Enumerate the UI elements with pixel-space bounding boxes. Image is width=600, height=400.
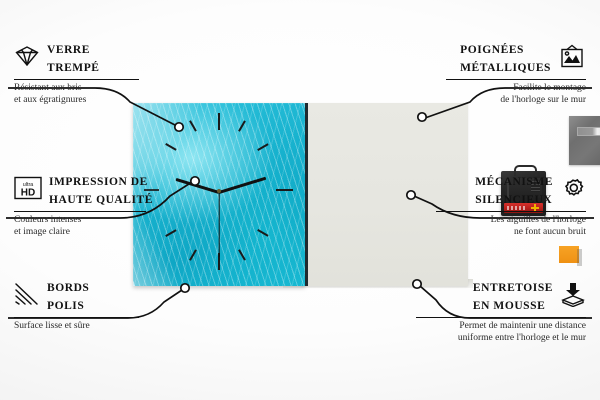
clock-tick <box>276 189 293 191</box>
feature-description: Les aiguilles de l'horloge ne font aucun… <box>436 215 586 238</box>
feature-description: Couleurs intenses et image claire <box>14 215 164 238</box>
clock-tick <box>218 113 220 130</box>
polished-edge-icon <box>14 282 40 311</box>
feature-heading: VERRE TREMPÉ <box>14 40 154 76</box>
product-photo <box>133 103 468 286</box>
feature-heading: POIGNÉES MÉTALLIQUES <box>446 40 586 76</box>
feature-title: BORDS POLIS <box>47 278 89 314</box>
feature-heading: BORDS POLIS <box>14 278 154 314</box>
metal-bracket-part <box>569 116 600 165</box>
feature-title: POIGNÉES MÉTALLIQUES <box>460 40 551 76</box>
feature-description: Permet de maintenir une distance uniform… <box>416 321 586 344</box>
foam-spacer-icon <box>560 281 586 312</box>
feature-rule <box>446 79 586 80</box>
diamond-icon <box>14 45 40 72</box>
picture-hanger-icon <box>558 44 586 73</box>
feature-poignees-metalliques[interactable]: POIGNÉES MÉTALLIQUES Facilite le montage… <box>446 40 586 106</box>
feature-heading: ENTRETOISE EN MOUSSE <box>416 278 586 314</box>
foam-spacer-part <box>559 246 579 263</box>
feature-verre-trempe[interactable]: VERRE TREMPÉ Résistant aux bris et aux é… <box>14 40 154 106</box>
feature-title: MÉCANISME SILENCIEUX <box>475 172 553 208</box>
ultra-hd-icon: ultra HD <box>14 176 42 205</box>
feature-heading: MÉCANISME SILENCIEUX <box>436 172 586 208</box>
feature-bords-polis[interactable]: BORDS POLIS Surface lisse et sûre <box>14 278 154 333</box>
bracket-slot <box>577 127 600 136</box>
feature-heading: ultra HD IMPRESSION DE HAUTE QUALITÉ <box>14 172 164 208</box>
feature-mecanisme-silencieux[interactable]: MÉCANISME SILENCIEUX Les aiguilles de l'… <box>436 172 586 238</box>
feature-rule <box>14 79 139 80</box>
feature-title: VERRE TREMPÉ <box>47 40 100 76</box>
clock-center-cap <box>217 189 221 193</box>
feature-description: Facilite le montage de l'horloge sur le … <box>446 83 586 106</box>
svg-text:HD: HD <box>21 187 35 198</box>
clock-second-hand <box>218 192 219 257</box>
feature-impression-haute-qualite[interactable]: ultra HD IMPRESSION DE HAUTE QUALITÉ Cou… <box>14 172 164 238</box>
feature-entretoise-en-mousse[interactable]: ENTRETOISE EN MOUSSE Permet de maintenir… <box>416 278 586 344</box>
feature-rule <box>14 211 146 212</box>
feature-rule <box>14 317 139 318</box>
feature-title: IMPRESSION DE HAUTE QUALITÉ <box>49 172 153 208</box>
feature-title: ENTRETOISE EN MOUSSE <box>473 278 553 314</box>
feature-rule <box>416 317 586 318</box>
feature-description: Surface lisse et sûre <box>14 321 154 333</box>
feature-rule <box>436 211 586 212</box>
gear-icon <box>560 176 586 205</box>
infographic-canvas: VERRE TREMPÉ Résistant aux bris et aux é… <box>0 0 600 400</box>
feature-description: Résistant aux bris et aux égratignures <box>14 83 154 106</box>
